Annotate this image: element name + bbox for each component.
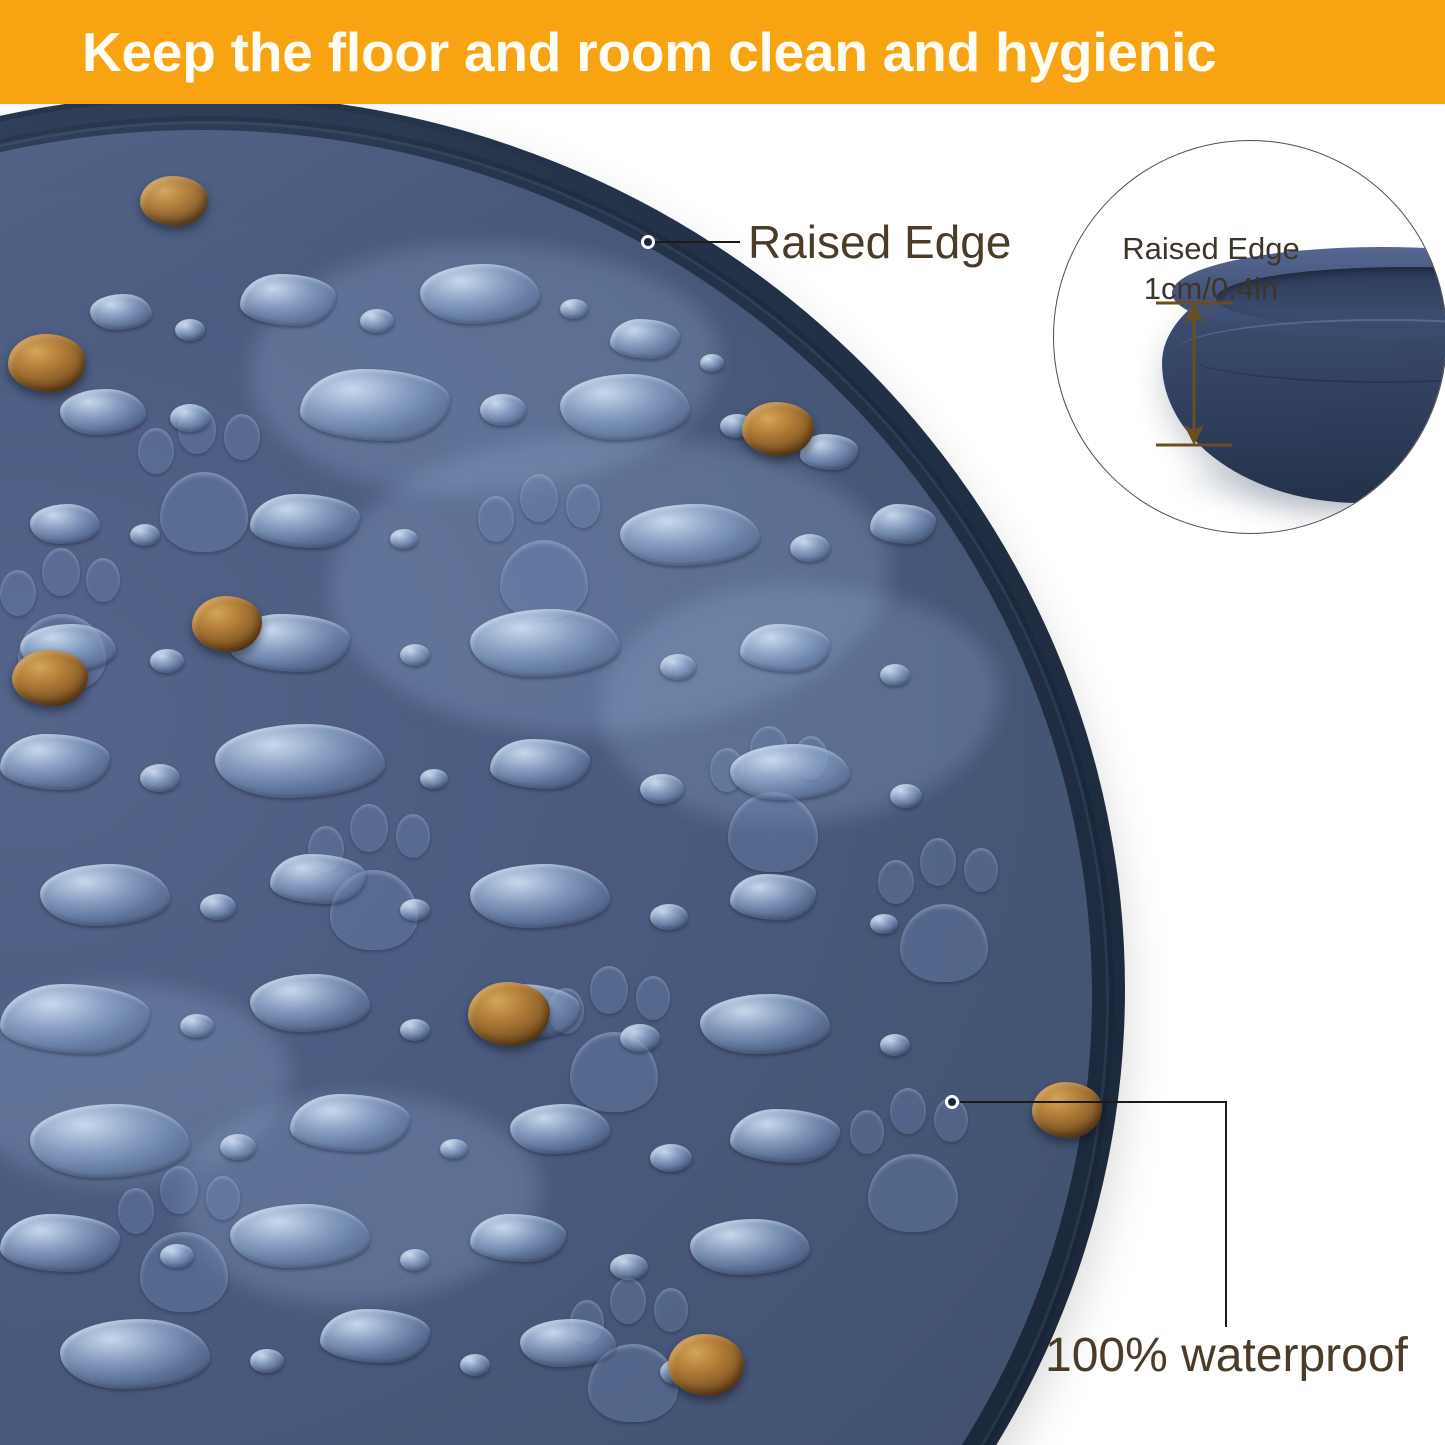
raised-edge-detail-inset: Raised Edge 1cm/0.4in xyxy=(1053,140,1445,534)
waterproof-marker-dot xyxy=(945,1095,959,1109)
raised-edge-leader-line xyxy=(648,241,740,243)
inset-caption: Raised Edge 1cm/0.4in xyxy=(1086,229,1336,309)
waterproof-leader-horizontal xyxy=(960,1101,1227,1103)
raised-edge-marker-dot xyxy=(641,235,655,249)
product-infographic: Keep the floor and room clean and hygien… xyxy=(0,0,1445,1445)
inset-caption-line1: Raised Edge xyxy=(1086,229,1336,269)
dimension-arrow-icon xyxy=(1150,299,1238,449)
mat-rim-highlight xyxy=(0,104,1100,1445)
header-banner: Keep the floor and room clean and hygien… xyxy=(0,0,1445,104)
banner-headline: Keep the floor and room clean and hygien… xyxy=(82,6,1372,98)
waterproof-leader-vertical xyxy=(1225,1101,1227,1327)
raised-edge-callout-label: Raised Edge xyxy=(748,214,1011,270)
waterproof-callout-label: 100% waterproof xyxy=(1045,1326,1408,1386)
